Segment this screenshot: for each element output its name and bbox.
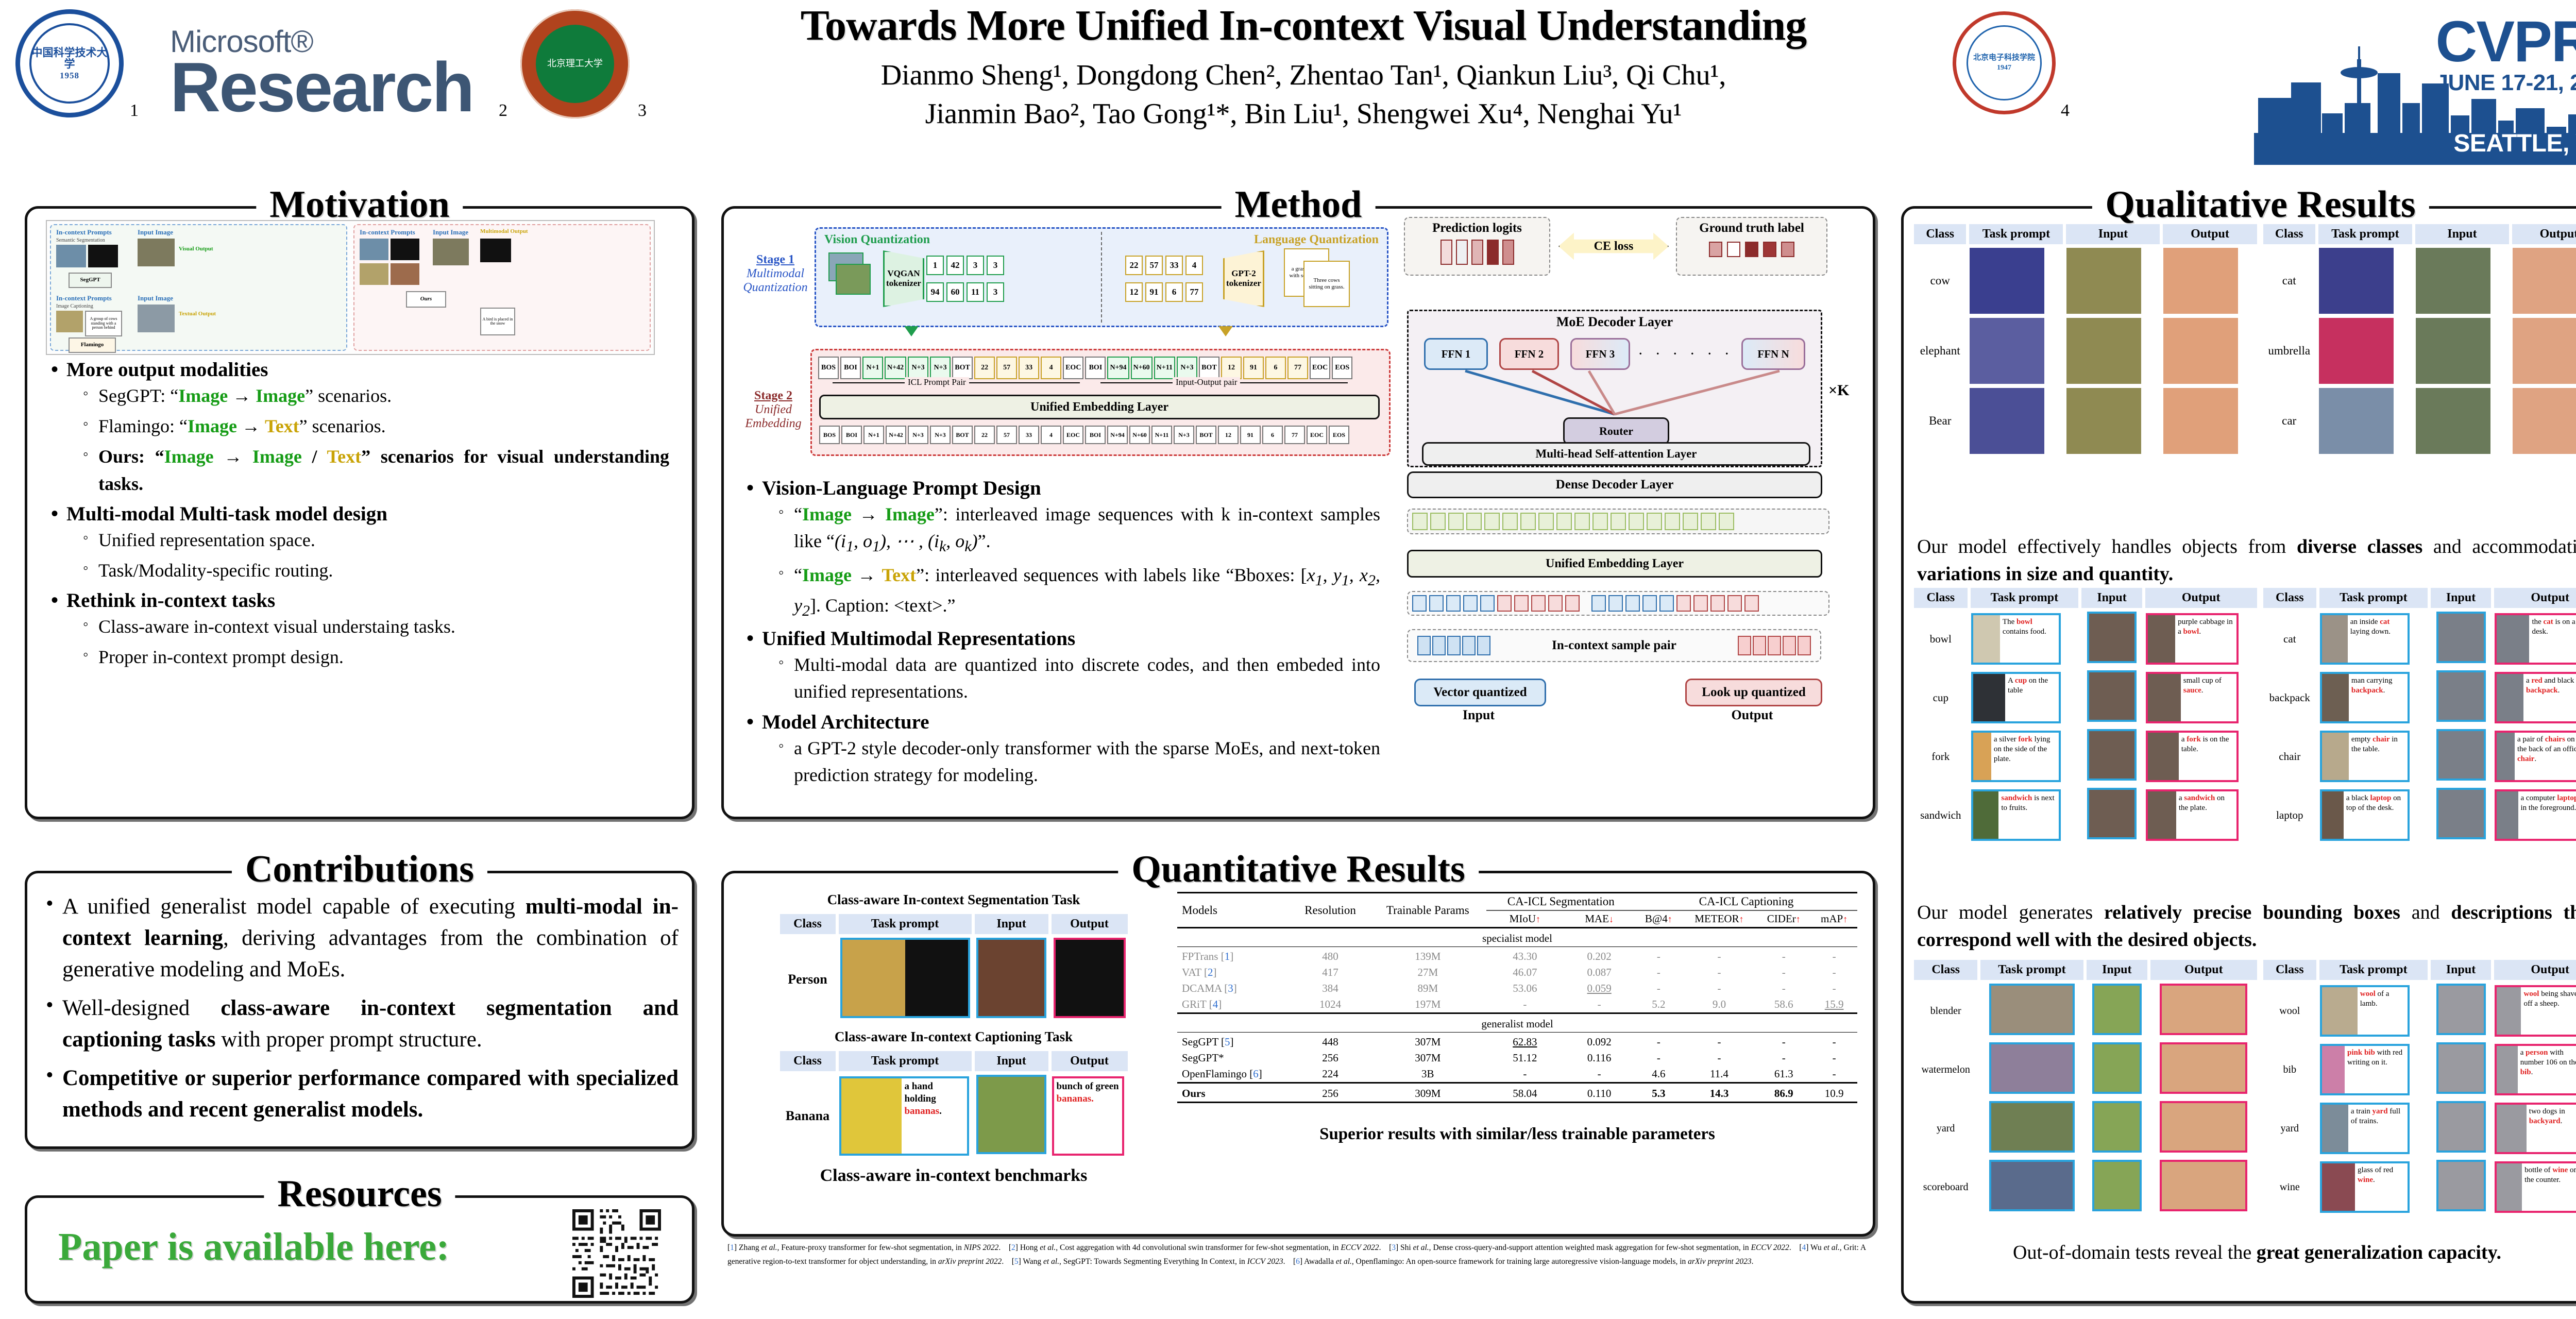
stage2-container: BOSBOI N+1N+42N+3N+3 BOT 2257334 EOCBOI … <box>810 349 1391 456</box>
qual-block3-caption: Out-of-domain tests reveal the great gen… <box>1917 1239 2576 1266</box>
vision-token-row-2: 9460113 <box>926 282 1007 302</box>
table-row: Person <box>780 937 1128 1022</box>
method-title: Method <box>1222 183 1376 227</box>
row0-b4: - <box>1635 949 1682 965</box>
q3l-output-2 <box>2160 1101 2247 1153</box>
qual-block-1: Class Task prompt Input Output cow eleph… <box>1911 221 2576 458</box>
fourth-institute-logo: 北京电子科技学院 1947 <box>1953 11 2056 114</box>
table-row: backpack man carrying backpack. a red an… <box>2263 670 2576 725</box>
row2-mae: 0.059 <box>1563 980 1635 996</box>
seg-output-image <box>1054 938 1126 1018</box>
vqgan-tokenizer: VQGANtokenizer <box>883 250 924 307</box>
motivation-sub-0-0: SegGPT: “Image → Image” scenarios. <box>82 382 669 409</box>
row1-meteor: - <box>1682 965 1757 980</box>
q1r-input-0 <box>2416 248 2490 314</box>
col-map: mAP↑ <box>1811 910 1857 928</box>
grow1-cider: - <box>1756 1050 1811 1066</box>
row0-meteor: - <box>1682 949 1757 965</box>
moe-decoder-label: MoE Decoder Layer <box>1409 314 1821 330</box>
in-context-sample-pair-box: In-context sample pair <box>1407 629 1821 662</box>
q2l-output-1: small cup of sauce. <box>2146 672 2239 723</box>
q3r-h2: Input <box>2431 960 2492 980</box>
method-bullet-1-head: Unified Multimodal Representations <box>762 628 1075 650</box>
contribution-item-0: A unified generalist model capable of ex… <box>43 891 679 985</box>
table-row: watermelon <box>1914 1042 2257 1097</box>
method-sub-2-0: a GPT-2 style decoder-only transformer w… <box>777 735 1380 788</box>
ours-params: 309M <box>1369 1083 1486 1103</box>
q3l-prompt-3 <box>1989 1160 2075 1211</box>
cvpr-location: SEATTLE, WA <box>2453 129 2576 158</box>
col-resolution: Resolution <box>1292 893 1369 928</box>
mhsa-layer: Multi-head Self-attention Layer <box>1422 442 1810 466</box>
cvpr-logo: CVPR JUNE 17-21, 2024 SEATTLE, WA <box>2254 10 2576 165</box>
motivation-bullet-0: More output modalities SegGPT: “Image → … <box>49 358 671 497</box>
contributions-title: Contributions <box>232 848 487 891</box>
bench2-header-input: Input <box>975 1051 1048 1071</box>
repeat-k-label: ×K <box>1828 382 1849 399</box>
q1l-input-2 <box>2066 388 2141 454</box>
table-row: laptop a black laptop on top of the desk… <box>2263 787 2576 843</box>
q2l-prompt-3: sandwich is next to fruits. <box>1971 789 2061 841</box>
row3-cider: 58.6 <box>1756 996 1811 1013</box>
icp-sub-bottom: Image Captioning <box>56 303 93 309</box>
method-bullet-2: Model Architecture a GPT-2 style decoder… <box>744 711 1382 788</box>
method-bullet-0-head: Vision-Language Prompt Design <box>762 477 1041 499</box>
motivation-sub-1-0: Unified representation space. <box>82 527 669 553</box>
stage2-unified-embedding-layer: Unified Embedding Layer <box>819 395 1380 419</box>
grow0-model: SegGPT <box>1182 1036 1218 1048</box>
bench-header-class: Class <box>780 914 836 934</box>
contribution-item-1: Well-designed class-aware in-context seg… <box>43 992 679 1055</box>
q3l-input-0 <box>2092 984 2142 1035</box>
caption-prompt-text: A group of cows standing with a person b… <box>85 311 122 336</box>
ce-loss-arrow: CE loss <box>1558 229 1669 263</box>
grow1-mae: 0.116 <box>1563 1050 1635 1066</box>
q1l-output-2 <box>2163 388 2238 454</box>
q3r-prompt-2: a train yard full of trains. <box>2320 1103 2410 1154</box>
q1r-input-1 <box>2416 318 2490 384</box>
q2l-input-2 <box>2087 729 2137 781</box>
q3l-output-0 <box>2160 984 2247 1035</box>
cap-prompt-text: a hand holding bananas. <box>902 1078 967 1154</box>
motivation-bullet-2: Rethink in-context tasks Class-aware in-… <box>49 589 671 670</box>
stage2-label: Stage 2 Unified Embedding <box>737 389 809 431</box>
table-row: wine glass of red wine. bottle of wine o… <box>2263 1159 2576 1215</box>
q2r-input-2 <box>2436 729 2486 781</box>
q2l-h0: Class <box>1914 588 1968 608</box>
microsoft-research-logo: Microsoft® Research <box>170 24 473 120</box>
q3l-class-2: yard <box>1914 1101 1977 1156</box>
quantitative-panel: Quantitative Results Class-aware In-cont… <box>721 871 1875 1237</box>
table-row: car <box>2263 387 2576 454</box>
motivation-sub-1-1: Task/Modality-specific routing. <box>82 557 669 584</box>
icp-label-top: In-context Prompts <box>56 228 112 236</box>
seg-row-class: Person <box>780 937 836 1022</box>
row1-map: - <box>1811 965 1857 980</box>
col-cider: CIDEr↑ <box>1756 910 1811 928</box>
qr-code[interactable] <box>572 1209 661 1298</box>
research-wordmark: Research <box>170 55 473 120</box>
captioning-example-table: Class Task prompt Input Output Banana a … <box>777 1048 1131 1161</box>
method-panel: Method Vision Quantization Language Quan… <box>721 206 1875 819</box>
ours-output-text: A bird is placed in the snow <box>480 308 515 335</box>
io-pair-label: Input-Output pair <box>1173 377 1240 387</box>
paper-link-text: Paper is available here: <box>58 1225 449 1270</box>
q1l-output-1 <box>2163 318 2238 384</box>
q2l-class-2: fork <box>1914 729 1968 784</box>
grow0-cider: - <box>1756 1034 1811 1050</box>
row1-ref[interactable]: 2 <box>1208 966 1213 978</box>
bit-affiliation-index: 3 <box>638 101 647 121</box>
group-seg: CA-ICL Segmentation <box>1486 893 1635 911</box>
q1r-output-0 <box>2513 248 2576 314</box>
cvpr-name: CVPR <box>2436 14 2576 69</box>
table-row: fork a silver fork lying on the side of … <box>1914 729 2257 784</box>
stage1-label-line2: Multimodal <box>739 267 811 281</box>
row3-b4: 5.2 <box>1635 996 1682 1013</box>
q2l-h3: Output <box>2145 588 2257 608</box>
table-row: SegGPT* 256 307M 51.12 0.116 - - - - <box>1177 1050 1857 1066</box>
ours-b4: 5.3 <box>1635 1083 1682 1103</box>
table-row: blender <box>1914 983 2257 1039</box>
icl-prompt-pair-label: ICL Prompt Pair <box>905 377 969 387</box>
q3r-input-3 <box>2436 1160 2486 1211</box>
bench2-header-output: Output <box>1052 1051 1128 1071</box>
grow2-ref[interactable]: 6 <box>1253 1068 1259 1080</box>
q1r-prompt-0 <box>2319 248 2394 314</box>
table-row: bib pink bib with red writing on it. a p… <box>2263 1042 2576 1097</box>
qual-block1-right-table: Class Task prompt Input Output cat umbre… <box>2260 221 2576 458</box>
segmentation-example-table: Class Task prompt Input Output Person <box>777 911 1131 1025</box>
reference-5: [6] Awadalla et al., Openflamingo: An op… <box>1293 1257 1754 1266</box>
q1l-class-1: elephant <box>1914 317 1966 384</box>
table-row: SegGPT [5] 448 307M 62.83 0.092 - - - - <box>1177 1034 1857 1050</box>
q3r-output-3: bottle of wine on the counter. <box>2495 1161 2576 1213</box>
motivation-sub-2-1: Proper in-context prompt design. <box>82 644 669 670</box>
ground-truth-box: Ground truth label <box>1676 217 1827 276</box>
row3-ref[interactable]: 4 <box>1213 998 1218 1010</box>
cap-output-text: bunch of green bananas. <box>1054 1078 1122 1154</box>
stage1-label-line1: Stage 1 <box>756 253 794 266</box>
ours-model: Ours <box>1177 1083 1292 1103</box>
q2r-prompt-0: an inside cat laying down. <box>2320 613 2410 665</box>
q2l-output-0: purple cabbage in a bowl. <box>2146 613 2239 665</box>
qual-block1-caption: Our model effectively handles objects fr… <box>1917 533 2576 588</box>
q3r-prompt-3: glass of red wine. <box>2320 1161 2410 1213</box>
row0-params: 139M <box>1369 949 1486 965</box>
q2l-input-3 <box>2087 788 2137 839</box>
qr-code-icon <box>572 1209 661 1298</box>
ours-mae: 0.110 <box>1563 1083 1635 1103</box>
motivation-bullet-1: Multi-modal Multi-task model design Unif… <box>49 502 671 584</box>
q3r-prompt-0: wool of a lamb. <box>2320 985 2410 1037</box>
stage1-container: Vision Quantization Language Quantizatio… <box>815 227 1388 327</box>
q3l-output-1 <box>2160 1042 2247 1094</box>
q1l-h3: Output <box>2163 224 2257 244</box>
row3-miou: - <box>1486 996 1563 1013</box>
grow2-b4: 4.6 <box>1635 1066 1682 1083</box>
group-cap: CA-ICL Captioning <box>1635 893 1857 911</box>
q3l-h1: Task prompt <box>1980 960 2083 980</box>
q2r-h1: Task prompt <box>2319 588 2428 608</box>
grow0-ref[interactable]: 5 <box>1225 1036 1230 1048</box>
table-row: elephant <box>1914 317 2257 384</box>
qual-block2-left-table: Class Task prompt Input Output bowl The … <box>1911 585 2260 846</box>
in-context-sample-pair-label: In-context sample pair <box>1552 638 1676 653</box>
q2r-output-1: a red and black backpack. <box>2495 672 2576 723</box>
row2-meteor: - <box>1682 980 1757 996</box>
q2r-h3: Output <box>2494 588 2576 608</box>
row0-miou: 43.30 <box>1486 949 1563 965</box>
reference-2: [3] Shi et al., Dense cross-query-and-su… <box>1389 1243 1797 1252</box>
grow0-res: 448 <box>1292 1034 1369 1050</box>
q3l-class-1: watermelon <box>1914 1042 1977 1097</box>
motivation-figure-left: In-context Prompts Semantic Segmentation… <box>50 224 347 351</box>
q1l-class-2: Bear <box>1914 387 1966 454</box>
grow1-params: 307M <box>1369 1050 1486 1066</box>
q3r-prompt-1: pink bib with red writing on it. <box>2320 1044 2410 1095</box>
table-row: cow <box>1914 247 2257 314</box>
row0-ref[interactable]: 1 <box>1225 950 1230 962</box>
bench2-header-class: Class <box>780 1051 836 1071</box>
table-row: bowl The bowl contains food. purple cabb… <box>1914 611 2257 667</box>
router-arrows-icon <box>1409 363 1821 419</box>
q3r-class-3: wine <box>2263 1159 2317 1215</box>
grow2-cider: 61.3 <box>1756 1066 1811 1083</box>
cap-input-image <box>976 1075 1046 1154</box>
table-row: yard <box>1914 1101 2257 1156</box>
row3-res: 1024 <box>1292 996 1369 1013</box>
motivation-sub-0-2: Ours: “Image → Image / Text” scenarios f… <box>82 443 669 497</box>
prediction-logits-label: Prediction logits <box>1405 221 1549 235</box>
seg-prompt-image <box>840 938 970 1018</box>
q2r-prompt-2: empty chair in the table. <box>2320 731 2410 782</box>
q3r-input-2 <box>2436 1101 2486 1153</box>
q3l-h3: Output <box>2150 960 2257 980</box>
router-box: Router <box>1563 417 1669 445</box>
row2-map: - <box>1811 980 1857 996</box>
bench-header-output: Output <box>1052 914 1128 934</box>
q1l-prompt-1 <box>1970 318 2044 384</box>
ustc-logo: 中国科学技术大学 1958 <box>15 9 124 117</box>
row1-b4: - <box>1635 965 1682 980</box>
microsoft-affiliation-index: 2 <box>499 101 507 121</box>
title-block: Towards More Unified In-context Visual U… <box>680 3 1927 133</box>
q2l-class-0: bowl <box>1914 611 1968 667</box>
moe-decoder-layer: MoE Decoder Layer FFN 1 FFN 2 FFN 3 · · … <box>1407 310 1822 467</box>
grow2-meteor: 11.4 <box>1682 1066 1757 1083</box>
seggpt-box: SegGPT <box>69 273 112 288</box>
row0-mae: 0.202 <box>1563 949 1635 965</box>
q3r-h1: Task prompt <box>2319 960 2428 980</box>
grow2-res: 224 <box>1292 1066 1369 1083</box>
table-row: cup A cup on the table small cup of sauc… <box>1914 670 2257 725</box>
grow1-meteor: - <box>1682 1050 1757 1066</box>
input-image-label-bottom: Input Image <box>138 294 173 302</box>
col-models: Models <box>1177 893 1292 928</box>
q2r-class-1: backpack <box>2263 670 2317 725</box>
row1-mae: 0.087 <box>1563 965 1635 980</box>
q1r-h1: Task prompt <box>2318 224 2412 244</box>
grow1-model: SegGPT* <box>1177 1050 1292 1066</box>
q1r-class-2: car <box>2263 387 2315 454</box>
grow0-mae: 0.092 <box>1563 1034 1635 1050</box>
row2-miou: 53.06 <box>1486 980 1563 996</box>
architecture-column: Prediction logits CE loss Ground truth l… <box>1404 217 1857 799</box>
motivation-bullet-2-head: Rethink in-context tasks <box>66 589 275 612</box>
q1l-input-1 <box>2066 318 2141 384</box>
lookup-quantized-box: Look up quantized <box>1685 679 1822 706</box>
ours-box: Ours <box>406 291 446 308</box>
quantitative-title: Quantitative Results <box>1118 848 1479 891</box>
table-row: OpenFlamingo [6] 224 3B - - 4.6 11.4 61.… <box>1177 1066 1857 1083</box>
ours-meteor: 14.3 <box>1682 1083 1757 1103</box>
stage2-label-line3: Embedding <box>737 417 809 431</box>
benchmark-figure: Class-aware In-context Segmentation Task… <box>737 892 1170 1186</box>
row2-cider: - <box>1756 980 1811 996</box>
row3-params: 197M <box>1369 996 1486 1013</box>
grow2-params: 3B <box>1369 1066 1486 1083</box>
icp-sub-top: Semantic Segmentation <box>56 238 105 243</box>
grow2-map: - <box>1811 1066 1857 1083</box>
references-list: [1] Zhang et al., Feature-proxy transfor… <box>727 1241 1866 1269</box>
q2r-input-0 <box>2436 612 2486 663</box>
poster-header: 中国科学技术大学 1958 1 Microsoft® Research 2 北京… <box>0 0 2576 183</box>
q1l-prompt-0 <box>1970 248 2044 314</box>
q3r-class-0: wool <box>2263 983 2317 1039</box>
results-table-wrap: Models Resolution Trainable Params CA-IC… <box>1177 892 1857 1144</box>
grow0-b4: - <box>1635 1034 1682 1050</box>
q2r-input-1 <box>2436 670 2486 722</box>
row0-model: FPTrans <box>1182 950 1218 962</box>
q2l-h1: Task prompt <box>1971 588 2079 608</box>
q2l-prompt-2: a silver fork lying on the side of the p… <box>1971 731 2061 782</box>
grow1-miou: 51.12 <box>1486 1050 1563 1066</box>
table-row: yard a train yard full of trains. two do… <box>2263 1101 2576 1156</box>
qualitative-panel: Qualitative Results Class Task prompt In… <box>1901 206 2576 1304</box>
q3r-output-1: a person with number 106 on the bib. <box>2495 1044 2576 1095</box>
multimodal-output-label: Multimodal Output <box>480 228 528 234</box>
stage1-label-line3: Quantization <box>739 281 811 295</box>
q3l-prompt-1 <box>1989 1042 2075 1094</box>
q1r-class-0: cat <box>2263 247 2315 314</box>
row1-model: VAT <box>1182 966 1201 978</box>
cvpr-dates: JUNE 17-21, 2024 <box>2436 70 2576 96</box>
ffn-ellipsis: · · · · · · <box>1630 345 1741 363</box>
q3r-class-2: yard <box>2263 1101 2317 1156</box>
q2l-prompt-0: The bowl contains food. <box>1971 613 2061 665</box>
grow2-model: OpenFlamingo <box>1182 1068 1247 1080</box>
q2l-output-2: a fork is on the table. <box>2146 731 2239 782</box>
row2-ref[interactable]: 3 <box>1228 982 1233 994</box>
q1l-h0: Class <box>1914 224 1966 244</box>
qualitative-title: Qualitative Results <box>2092 183 2429 227</box>
q1r-output-1 <box>2513 318 2576 384</box>
textual-output-label: Textual Output <box>179 311 216 317</box>
q3l-input-1 <box>2092 1042 2142 1094</box>
stage1-label: Stage 1 Multimodal Quantization <box>739 253 811 295</box>
icp-label-bottom: In-context Prompts <box>56 294 112 302</box>
q2l-input-0 <box>2087 612 2137 663</box>
qual-block2-caption: Our model generates relatively precise b… <box>1917 899 2576 954</box>
row3-map: 15.9 <box>1811 996 1857 1013</box>
q2r-output-3: a computer laptop in the foreground. <box>2495 789 2576 841</box>
fourth-logo-text: 北京电子科技学院 <box>1973 54 2035 62</box>
table-row: wool wool of a lamb. wool being shaved o… <box>2263 983 2576 1039</box>
grow1-map: - <box>1811 1050 1857 1066</box>
qual-block3-right-table: Class Task prompt Input Output wool wool… <box>2260 957 2576 1218</box>
q2r-output-0: the cat is on a desk. <box>2495 613 2576 665</box>
q2l-class-3: sandwich <box>1914 787 1968 843</box>
method-bullet-0: Vision-Language Prompt Design “Image → I… <box>744 477 1382 622</box>
resources-title: Resources <box>264 1172 455 1216</box>
col-miou: MIoU↑ <box>1486 910 1563 928</box>
q1l-prompt-2 <box>1970 388 2044 454</box>
motivation-bullet-1-head: Multi-modal Multi-task model design <box>66 503 387 525</box>
table-row: chair empty chair in the table. a pair o… <box>2263 729 2576 784</box>
output-label: Output <box>1685 707 1819 723</box>
q2r-prompt-3: a black laptop on top of the desk. <box>2320 789 2410 841</box>
q2l-output-3: a sandwich on the plate. <box>2146 789 2239 841</box>
embedding-token-row <box>1407 509 1829 534</box>
ustc-logo-year: 1958 <box>60 71 79 80</box>
input-image-label-ours: Input Image <box>433 228 468 236</box>
author-line-1: Dianmo Sheng¹, Dongdong Chen², Zhentao T… <box>680 57 1927 94</box>
method-sub-1-0: Multi-modal data are quantized into disc… <box>777 651 1380 705</box>
right-unified-embedding-layer: Unified Embedding Layer <box>1407 550 1822 578</box>
contribution-item-2: Competitive or superior performance comp… <box>43 1062 679 1125</box>
cap-output-cell: bunch of green bananas. <box>1052 1076 1124 1156</box>
ground-truth-label: Ground truth label <box>1677 221 1826 235</box>
qual-block2-right-table: Class Task prompt Input Output cat an in… <box>2260 585 2576 846</box>
motivation-sub-2-0: Class-aware in-context visual understain… <box>82 613 669 640</box>
qual-block3-left-table: Class Task prompt Input Output blender w… <box>1911 957 2260 1218</box>
cap-task-title: Class-aware In-context Captioning Task <box>737 1029 1170 1045</box>
reference-1: [2] Hong et al., Cost aggregation with 4… <box>1009 1243 1387 1252</box>
bit-logo: 北京理工大学 <box>520 9 630 119</box>
q2r-input-3 <box>2436 788 2486 839</box>
fourth-affiliation-index: 4 <box>2061 101 2070 121</box>
ours-res: 256 <box>1292 1083 1369 1103</box>
ustc-logo-text: 中国科学技术大学 <box>31 47 108 70</box>
bench-header-input: Input <box>975 914 1048 934</box>
row3-meteor: 9.0 <box>1682 996 1757 1013</box>
q3r-h3: Output <box>2494 960 2576 980</box>
row2-params: 89M <box>1369 980 1486 996</box>
row0-res: 480 <box>1292 949 1369 965</box>
row2-b4: - <box>1635 980 1682 996</box>
seg-input-image <box>976 938 1046 1018</box>
ours-map: 10.9 <box>1811 1083 1857 1103</box>
q3r-class-1: bib <box>2263 1042 2317 1097</box>
row0-map: - <box>1811 949 1857 965</box>
q3l-input-2 <box>2092 1101 2142 1153</box>
input-label: Input <box>1414 707 1543 723</box>
section-specialist: specialist model <box>1177 928 1857 947</box>
results-caption: Superior results with similar/less train… <box>1177 1125 1857 1144</box>
q2r-class-2: chair <box>2263 729 2317 784</box>
motivation-figure: In-context Prompts Semantic Segmentation… <box>46 220 655 355</box>
ours-cider: 86.9 <box>1756 1083 1811 1103</box>
grow1-res: 256 <box>1292 1050 1369 1066</box>
method-bullet-1: Unified Multimodal Representations Multi… <box>744 627 1382 705</box>
table-row: umbrella <box>2263 317 2576 384</box>
method-sub-0-1: “Image → Text”: interleaved sequences wi… <box>777 562 1380 622</box>
fourth-logo-year: 1947 <box>1997 64 2011 72</box>
table-row: Banana a hand holding bananas. bunch of … <box>780 1074 1128 1158</box>
cap-row-class: Banana <box>780 1074 836 1158</box>
grow0-params: 307M <box>1369 1034 1486 1050</box>
